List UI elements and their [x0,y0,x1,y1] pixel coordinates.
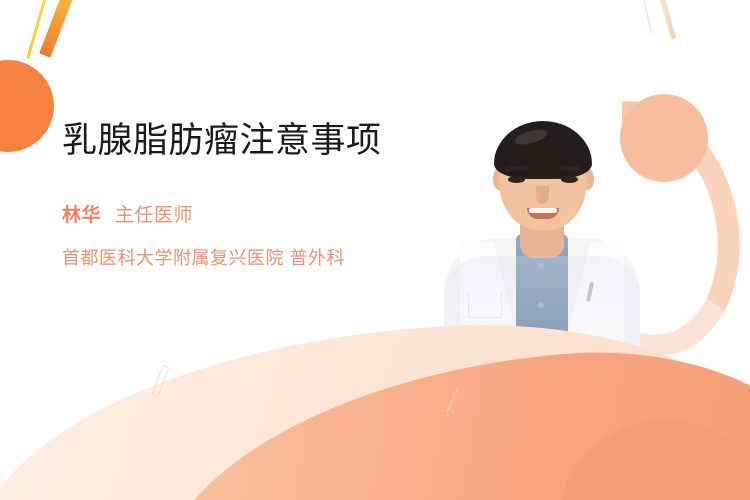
doctor-photo [442,106,642,368]
hairline-stroke-icon [447,388,459,412]
eye-right [561,176,578,183]
cream-diagonal-stroke-icon [639,0,652,34]
orange-diagonal-stroke-icon [39,0,77,58]
doctor-topic-card: 乳腺脂肪瘤注意事项 林华 主任医师 首都医科大学附属复兴医院 普外科 [0,0,750,500]
orange-circle-decoration [0,60,54,152]
shirt-button [538,262,544,268]
doctor-affiliation: 首都医科大学附属复兴医院 普外科 [62,244,422,270]
text-block: 乳腺脂肪瘤注意事项 林华 主任医师 首都医科大学附属复兴医院 普外科 [62,118,422,270]
bottom-wave-blob [560,420,750,500]
peach-diagonal-stroke-icon [657,0,677,40]
teeth [529,208,557,213]
nose [536,186,549,204]
coat-pocket [468,292,502,318]
doctor-professional-title: 主任医师 [115,200,193,227]
page-title: 乳腺脂肪瘤注意事项 [62,118,402,163]
doctor-name: 林华 [62,200,101,227]
eye-left [508,176,525,183]
doctor-meta-row: 林华 主任医师 [62,200,422,227]
shirt-button [538,302,544,308]
yellow-diagonal-stroke-icon [26,0,50,59]
doctor-portrait-group [430,88,750,388]
outlined-stroke-icon [152,365,170,397]
